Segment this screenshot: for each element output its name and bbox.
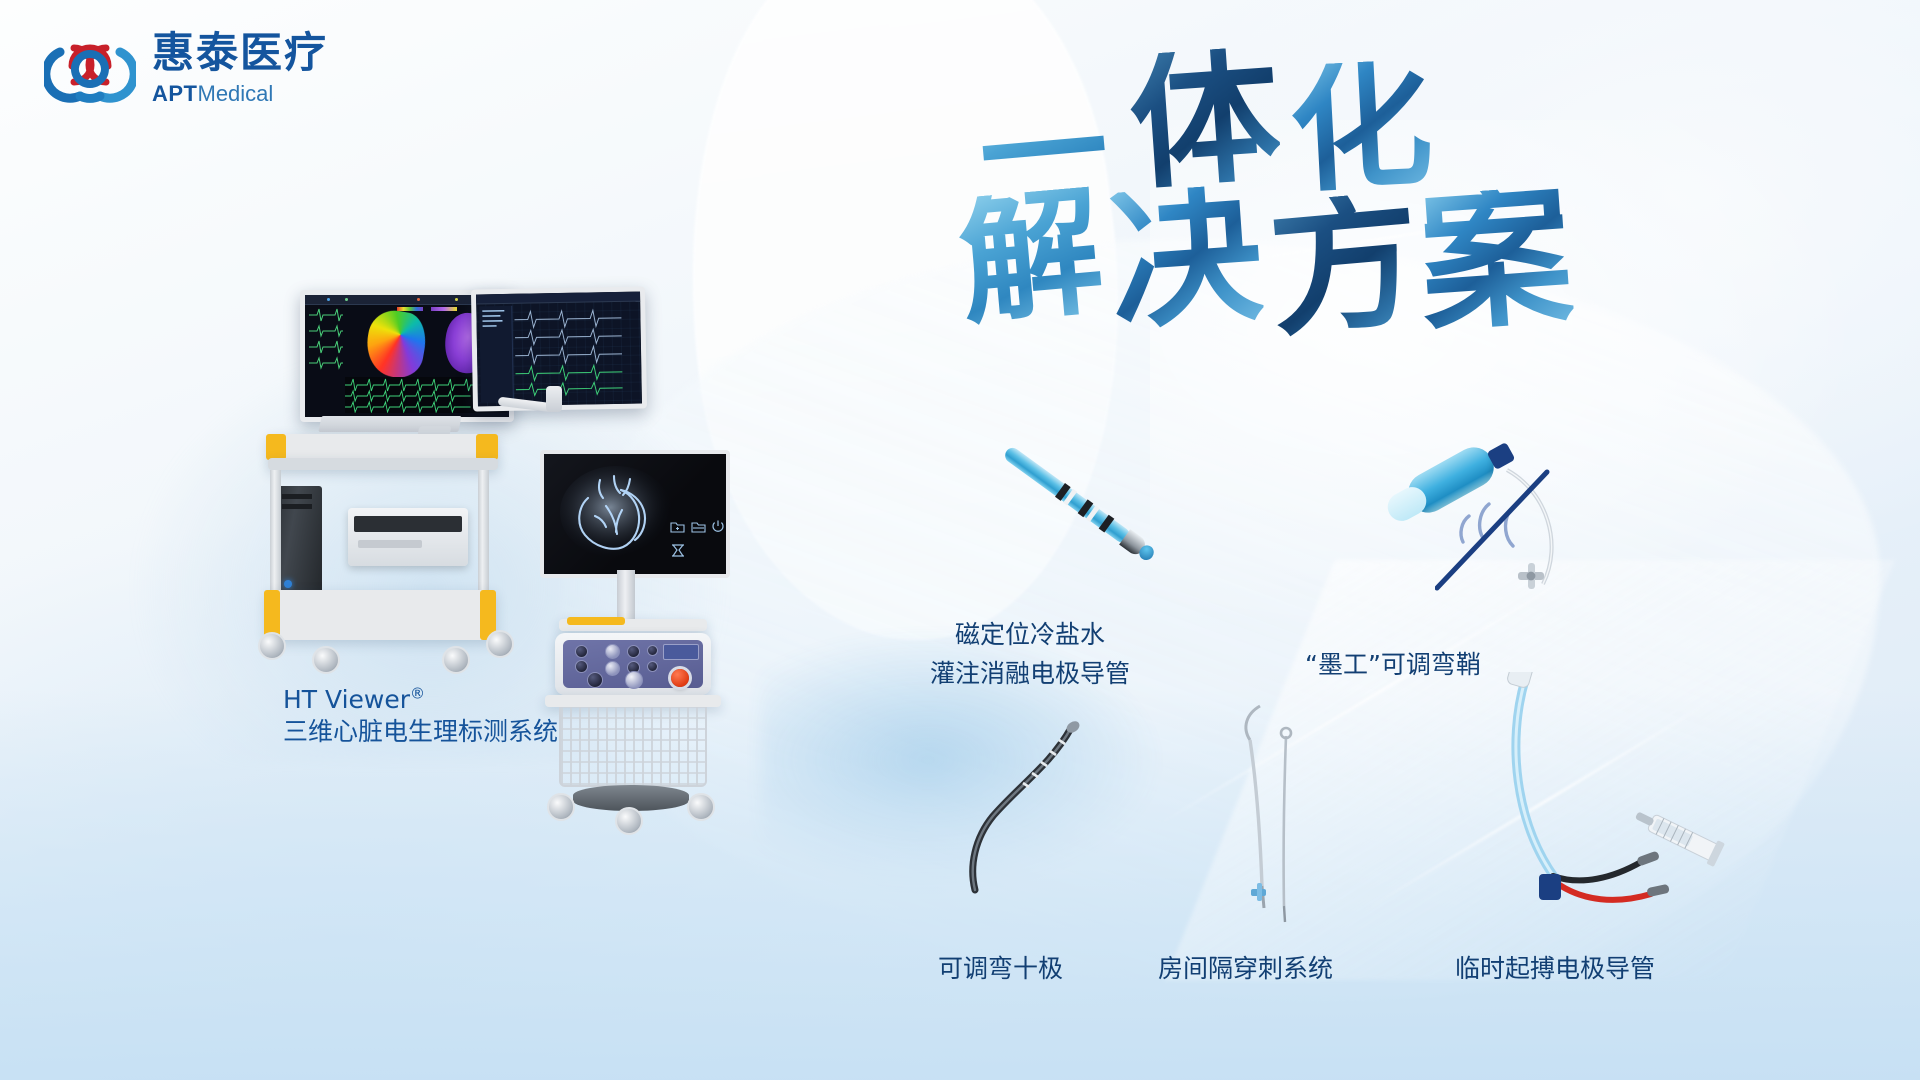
cart-caster-4	[486, 630, 514, 658]
headline-char-5: 决	[1105, 183, 1264, 333]
headline-calligraphy: 一 体 化 解 决 方 案	[970, 40, 1630, 360]
heart-monitor-post	[617, 570, 635, 620]
poster-canvas: 惠泰医疗 APTMedical 一 体 化 解 决 方 案	[0, 0, 1920, 1080]
apt-medical-logo-mark-icon	[44, 22, 136, 114]
ht-viewer-product-name: HT Viewer	[283, 685, 410, 714]
headline-char-7: 案	[1415, 185, 1574, 335]
generator-control-panel[interactable]	[555, 633, 711, 695]
heart-cart-shelf	[545, 695, 721, 707]
monitor-arm-joint	[546, 386, 562, 412]
headline-char-4: 解	[955, 186, 1106, 328]
heart-cart-caster-2	[687, 793, 715, 821]
equipment-basket	[559, 707, 707, 787]
power-icon[interactable]	[711, 519, 725, 536]
cart-shelf-edge	[268, 458, 498, 470]
ablation-catheter-label-line1: 磁定位冷盐水	[860, 616, 1200, 655]
heart-monitor-screen	[540, 450, 730, 578]
decapolar-catheter-icon	[955, 720, 1085, 920]
cardiac-map-activation	[362, 306, 431, 381]
logo-name-en: APTMedical	[152, 83, 328, 105]
ablation-catheter-icon	[970, 413, 1180, 608]
cart-caster-3	[442, 646, 470, 674]
logo-name-en-light: Medical	[198, 81, 274, 106]
transseptal-needle-label: 房间隔穿刺系统	[1158, 950, 1333, 988]
cart-caster-1	[258, 632, 286, 660]
brand-logo[interactable]: 惠泰医疗 APTMedical	[44, 22, 328, 114]
cart-caster-2	[312, 646, 340, 674]
computer-tower	[276, 486, 322, 598]
heart-cart-caster-1	[547, 793, 575, 821]
transseptal-needle-icon	[1228, 700, 1318, 930]
emergency-stop-button[interactable]	[671, 669, 689, 687]
segmentation-icon[interactable]	[670, 544, 686, 560]
registered-trademark-mark: ®	[410, 685, 425, 703]
ht-viewer-description: 三维心脏电生理标测系统	[283, 713, 558, 751]
heart-cart-caster-3	[615, 807, 643, 835]
pacing-catheter-icon	[1455, 672, 1745, 932]
ablation-catheter-label-line2: 灌注消融电极导管	[860, 655, 1200, 694]
logo-name-en-bold: APT	[152, 81, 198, 106]
cart-worktop	[268, 434, 498, 460]
headline-char-6: 方	[1264, 190, 1423, 340]
decapolar-catheter-label: 可调弯十极	[938, 950, 1063, 988]
cart-base	[266, 590, 496, 640]
ablation-catheter-label: 磁定位冷盐水 灌注消融电极导管	[860, 616, 1200, 694]
printer	[348, 508, 468, 566]
pacing-catheter-label: 临时起搏电极导管	[1455, 950, 1655, 988]
open-case-icon[interactable]	[691, 520, 706, 536]
heart-display-cart	[545, 545, 795, 1045]
steerable-sheath-icon	[1395, 448, 1645, 608]
logo-name-cn: 惠泰医疗	[152, 32, 328, 74]
new-case-icon[interactable]	[670, 520, 685, 536]
